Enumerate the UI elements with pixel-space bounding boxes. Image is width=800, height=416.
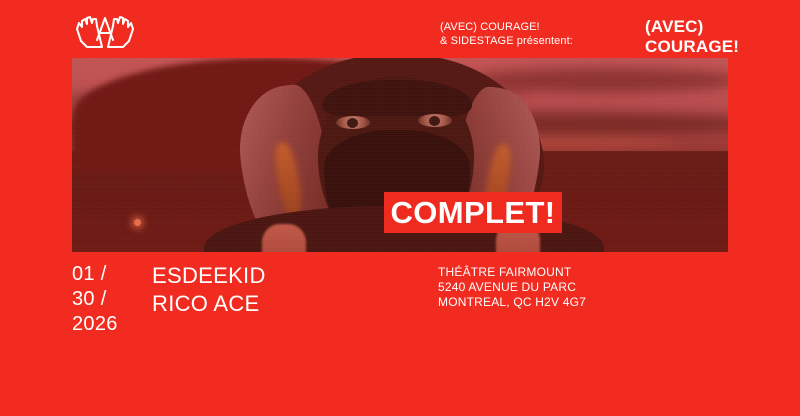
brand-wordmark[interactable]: (AVEC) COURAGE! bbox=[645, 17, 739, 57]
event-lineup: ESDEEKID RICO ACE bbox=[152, 262, 266, 318]
poster-header: (AVEC) COURAGE! & SIDESTAGE présentent: … bbox=[0, 0, 800, 58]
date-line-year: 2026 bbox=[72, 312, 118, 337]
event-date: 01 / 30 / 2026 bbox=[72, 262, 118, 337]
lineup-headliner: ESDEEKID bbox=[152, 262, 266, 290]
artist-photo: COMPLET! bbox=[72, 58, 728, 252]
date-line-month: 01 / bbox=[72, 262, 118, 287]
event-poster: (AVEC) COURAGE! & SIDESTAGE présentent: … bbox=[0, 0, 800, 416]
lineup-support: RICO ACE bbox=[152, 290, 266, 318]
venue-name: THÉÂTRE FAIRMOUNT bbox=[438, 265, 586, 280]
date-line-day: 30 / bbox=[72, 287, 118, 312]
presenter-line-2: & SIDESTAGE présentent: bbox=[440, 34, 573, 48]
event-venue: THÉÂTRE FAIRMOUNT 5240 AVENUE DU PARC MO… bbox=[438, 265, 586, 310]
praying-hands-logo-icon[interactable] bbox=[72, 12, 138, 50]
status-badge-sold-out: COMPLET! bbox=[384, 192, 562, 233]
venue-street: 5240 AVENUE DU PARC bbox=[438, 280, 586, 295]
brand-line-2: COURAGE! bbox=[645, 37, 739, 57]
presenter-line-1: (AVEC) COURAGE! bbox=[440, 20, 573, 34]
venue-city: MONTREAL, QC H2V 4G7 bbox=[438, 295, 586, 310]
presenter-credit: (AVEC) COURAGE! & SIDESTAGE présentent: bbox=[440, 20, 573, 48]
status-badge-label: COMPLET! bbox=[390, 197, 555, 228]
brand-line-1: (AVEC) bbox=[645, 17, 739, 37]
